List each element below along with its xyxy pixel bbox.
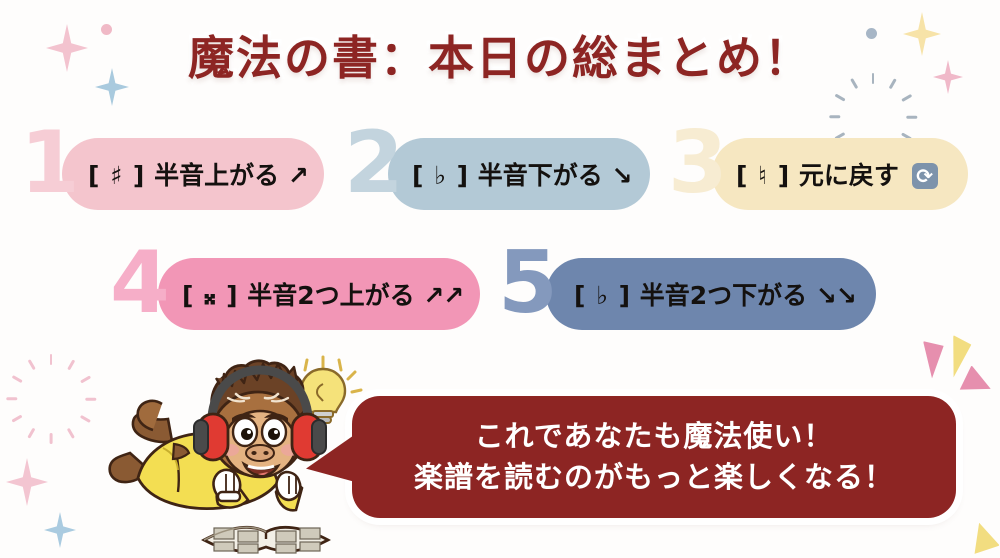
accidental-symbol-double-flat: [ ♭ ] bbox=[574, 281, 631, 310]
rule-number-4: 4 bbox=[110, 240, 168, 326]
accidental-symbol-flat: [ ♭ ] bbox=[412, 161, 469, 190]
arrow-up-icon: ↗ bbox=[288, 161, 308, 190]
decor-ray-yellow-bottomright bbox=[962, 520, 1000, 558]
open-book bbox=[204, 527, 328, 553]
rule-label-1: 半音上がる bbox=[154, 161, 279, 190]
arrow-double-down-icon: ↘↘ bbox=[816, 281, 856, 310]
accidental-symbol-double-sharp: [ 𝄪 ] bbox=[182, 281, 239, 310]
rule-label-4: 半音2つ上がる bbox=[247, 281, 414, 310]
speech-bubble: これであなたも魔法使い！ 楽譜を読むのがもっと楽しくなる！ bbox=[352, 396, 956, 518]
rule-number-2: 2 bbox=[344, 120, 402, 206]
rule-item-4: 4 [ 𝄪 ] 半音2つ上がる ↗↗ bbox=[158, 258, 480, 330]
decor-ray-pink-right bbox=[954, 365, 994, 404]
rule-text-3: [ ♮ ] 元に戻す bbox=[736, 156, 938, 192]
rule-item-1: 1 [ ♯ ] 半音上がる ↗ bbox=[62, 138, 324, 210]
sparkle-star-pink-bottomleft bbox=[6, 458, 48, 506]
arrow-down-icon: ↘ bbox=[612, 161, 632, 190]
slide-canvas: 魔法の書：本日の総まとめ！ 1 [ ♯ ] 半音上がる ↗ 2 [ ♭ ] 半音… bbox=[0, 0, 1000, 558]
rule-number-5: 5 bbox=[498, 240, 556, 326]
arrow-double-up-icon: ↗↗ bbox=[423, 281, 463, 310]
page-title: 魔法の書：本日の総まとめ！ bbox=[188, 22, 812, 88]
accidental-symbol-natural: [ ♮ ] bbox=[736, 161, 790, 190]
rule-number-3: 3 bbox=[668, 120, 726, 206]
rule-label-5: 半音2つ下がる bbox=[640, 281, 807, 310]
rule-item-3: 3 [ ♮ ] 元に戻す bbox=[712, 138, 968, 210]
rule-text-5: [ ♭ ] 半音2つ下がる ↘↘ bbox=[574, 276, 856, 312]
title-container: 魔法の書：本日の総まとめ！ bbox=[0, 22, 1000, 88]
rule-label-2: 半音下がる bbox=[478, 161, 603, 190]
rule-label-3: 元に戻す bbox=[799, 161, 899, 190]
rule-number-1: 1 bbox=[20, 120, 78, 206]
bubble-line-1: これであなたも魔法使い！ bbox=[475, 416, 834, 457]
rule-text-1: [ ♯ ] 半音上がる ↗ bbox=[88, 156, 308, 192]
sparkle-burst-pink-bottomleft bbox=[14, 336, 88, 410]
rule-text-2: [ ♭ ] 半音下がる ↘ bbox=[412, 156, 631, 192]
decor-ray-yellow bbox=[949, 335, 972, 379]
bubble-line-2: 楽譜を読むのがもっと楽しくなる！ bbox=[414, 457, 894, 498]
decor-ray-pink-left bbox=[923, 339, 947, 379]
repeat-icon bbox=[912, 163, 938, 189]
rule-item-2: 2 [ ♭ ] 半音下がる ↘ bbox=[388, 138, 650, 210]
accidental-symbol-sharp: [ ♯ ] bbox=[88, 161, 145, 190]
rule-text-4: [ 𝄪 ] 半音2つ上がる ↗↗ bbox=[182, 276, 463, 312]
sparkle-star-blue-bottomleft bbox=[44, 512, 76, 548]
rule-item-5: 5 [ ♭ ] 半音2つ下がる ↘↘ bbox=[546, 258, 876, 330]
